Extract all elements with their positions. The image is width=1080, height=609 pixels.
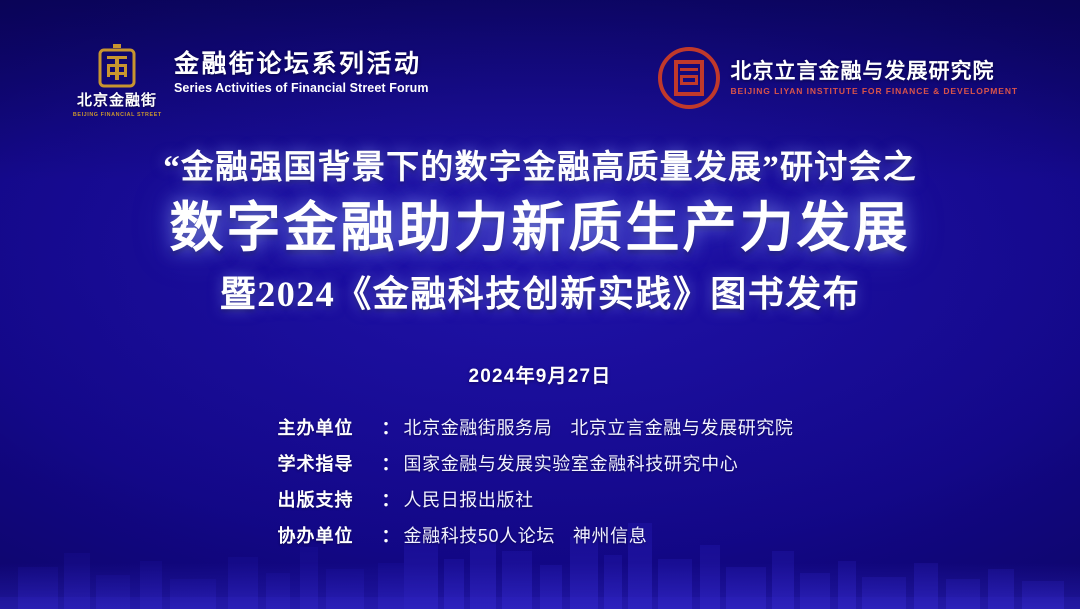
credit-label: 主办单位 [278,414,382,440]
credit-row: 主办单位 ： 北京金融街服务局北京立言金融与发展研究院 [278,414,803,440]
circular-seal-icon [657,46,721,110]
poster-header: 北京金融街 BEIJING FINANCIAL STREET 金融街论坛系列活动… [0,40,1080,128]
poster-title-group: “金融强国背景下的数字金融高质量发展”研讨会之 数字金融助力新质生产力发展 暨2… [0,148,1080,316]
credit-value: 北京金融街服务局北京立言金融与发展研究院 [404,414,794,440]
title-subheading: “金融强国背景下的数字金融高质量发展”研讨会之 [0,148,1080,189]
liyan-text-block: 北京立言金融与发展研究院 BEIJING LIYAN INSTITUTE FOR… [731,60,1018,95]
forum-title-cn: 金融街论坛系列活动 [174,51,429,77]
credit-value-part: 金融科技50人论坛 [404,526,555,546]
credit-colon: ： [382,486,400,512]
liyan-name-cn: 北京立言金融与发展研究院 [731,60,1018,83]
credit-label: 学术指导 [278,450,382,476]
liyan-name-en: BEIJING LIYAN INSTITUTE FOR FINANCE & DE… [731,86,1018,96]
credit-value: 人民日报出版社 [404,486,534,512]
credit-colon: ： [382,450,400,476]
credit-row: 出版支持 ： 人民日报出版社 [278,486,803,512]
brand-financial-street: 北京金融街 BEIJING FINANCIAL STREET 金融街论坛系列活动… [74,42,429,118]
credit-colon: ： [382,414,400,440]
credit-value-part: 神州信息 [573,526,647,546]
credit-value-part: 国家金融与发展实验室金融科技研究中心 [404,454,739,474]
title-book-launch: 暨2024《金融科技创新实践》图书发布 [0,273,1080,316]
bell-emblem-icon [94,42,140,90]
credit-row: 协办单位 ： 金融科技50人论坛神州信息 [278,522,803,548]
credit-value: 金融科技50人论坛神州信息 [404,522,648,548]
credit-label: 协办单位 [278,522,382,548]
bfs-logo-mark: 北京金融街 BEIJING FINANCIAL STREET [74,42,160,118]
brand-liyan-institute: 北京立言金融与发展研究院 BEIJING LIYAN INSTITUTE FOR… [657,46,1018,110]
credit-value: 国家金融与发展实验室金融科技研究中心 [404,450,739,476]
forum-title-en: Series Activities of Financial Street Fo… [174,81,429,95]
credit-value-part: 人民日报出版社 [404,490,534,510]
credit-row: 学术指导 ： 国家金融与发展实验室金融科技研究中心 [278,450,803,476]
event-date: 2024年9月27日 [0,361,1080,388]
poster-canvas: 北京金融街 BEIJING FINANCIAL STREET 金融街论坛系列活动… [0,0,1080,609]
credit-label: 出版支持 [278,486,382,512]
forum-title-block: 金融街论坛系列活动 Series Activities of Financial… [174,42,429,95]
credit-value-part: 北京金融街服务局 [404,418,553,438]
credit-value-part: 北京立言金融与发展研究院 [570,418,793,438]
bfs-logo-cn: 北京金融街 [77,93,157,110]
bfs-logo-en: BEIJING FINANCIAL STREET [73,112,162,118]
credits-list: 主办单位 ： 北京金融街服务局北京立言金融与发展研究院 学术指导 ： 国家金融与… [0,414,1080,548]
title-main: 数字金融助力新质生产力发展 [0,197,1080,261]
credit-colon: ： [382,522,400,548]
